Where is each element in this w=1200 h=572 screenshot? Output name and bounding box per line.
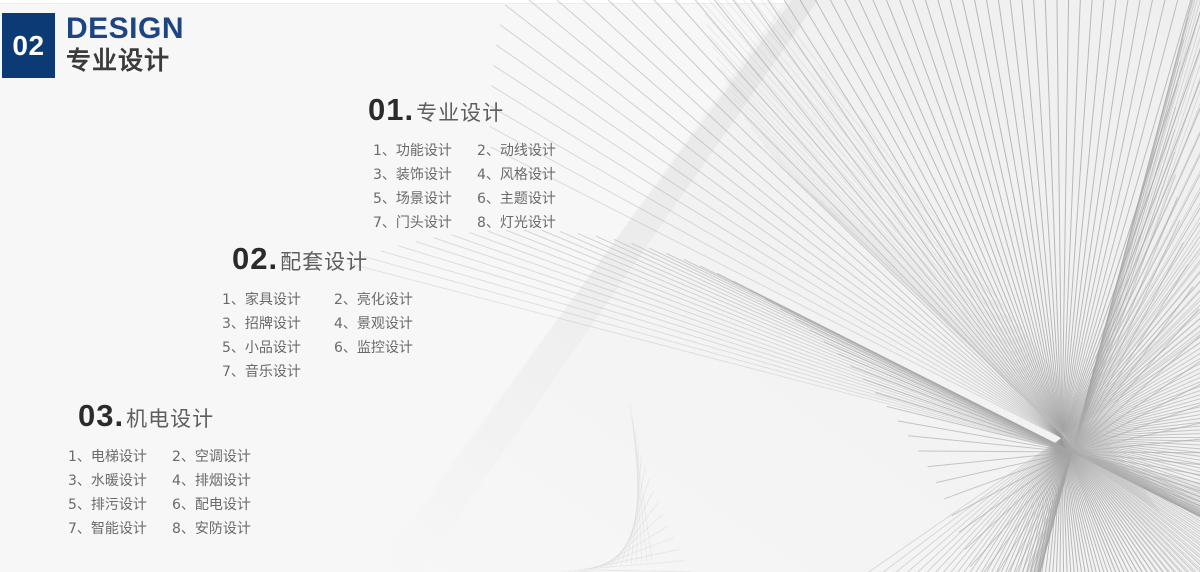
content-block-03: 03. 机电设计 1、电梯设计 2、空调设计 3、水暖设计 4、排烟设计 5、排… — [78, 400, 276, 541]
block-index-01: 01. — [368, 94, 414, 125]
list-item: 5、小品设计 — [222, 336, 334, 360]
list-item: 6、监控设计 — [334, 336, 446, 360]
block-index-02: 02. — [232, 243, 278, 274]
list-item — [334, 360, 446, 384]
content-block-02: 02. 配套设计 1、家具设计 2、亮化设计 3、招牌设计 4、景观设计 5、小… — [232, 243, 446, 384]
list-item: 3、装饰设计 — [373, 163, 477, 187]
block-index-03: 03. — [78, 400, 124, 431]
list-item: 2、动线设计 — [477, 139, 581, 163]
list-item: 6、配电设计 — [172, 493, 276, 517]
section-number-badge: 02 — [2, 13, 55, 78]
list-item: 1、功能设计 — [373, 139, 477, 163]
list-item: 8、灯光设计 — [477, 211, 581, 235]
list-row: 3、装饰设计 4、风格设计 — [373, 163, 581, 187]
list-row: 1、功能设计 2、动线设计 — [373, 139, 581, 163]
top-divider — [0, 0, 1200, 4]
list-item: 4、景观设计 — [334, 312, 446, 336]
list-row: 5、小品设计 6、监控设计 — [222, 336, 446, 360]
list-item: 3、水暖设计 — [68, 469, 172, 493]
block-label-01: 专业设计 — [416, 103, 504, 124]
list-item: 4、排烟设计 — [172, 469, 276, 493]
list-item: 5、场景设计 — [373, 187, 477, 211]
list-item: 7、智能设计 — [68, 517, 172, 541]
list-row: 3、水暖设计 4、排烟设计 — [68, 469, 276, 493]
list-item: 1、电梯设计 — [68, 445, 172, 469]
list-item: 8、安防设计 — [172, 517, 276, 541]
list-row: 3、招牌设计 4、景观设计 — [222, 312, 446, 336]
block-label-02: 配套设计 — [280, 252, 368, 273]
block-title-03: 03. 机电设计 — [78, 400, 276, 431]
page-title-cn: 专业设计 — [66, 48, 184, 73]
list-row: 7、音乐设计 — [222, 360, 446, 384]
content-block-01: 01. 专业设计 1、功能设计 2、动线设计 3、装饰设计 4、风格设计 5、场… — [368, 94, 581, 235]
block-label-03: 机电设计 — [126, 409, 214, 430]
list-row: 7、门头设计 8、灯光设计 — [373, 211, 581, 235]
block-title-02: 02. 配套设计 — [232, 243, 446, 274]
list-item: 3、招牌设计 — [222, 312, 334, 336]
list-row: 1、家具设计 2、亮化设计 — [222, 288, 446, 312]
block-list-03: 1、电梯设计 2、空调设计 3、水暖设计 4、排烟设计 5、排污设计 6、配电设… — [68, 445, 276, 541]
slide-canvas: 02 DESIGN 专业设计 01. 专业设计 1、功能设计 2、动线设计 3、… — [0, 0, 1200, 572]
list-item: 7、门头设计 — [373, 211, 477, 235]
block-title-01: 01. 专业设计 — [368, 94, 581, 125]
list-item: 7、音乐设计 — [222, 360, 334, 384]
list-row: 5、排污设计 6、配电设计 — [68, 493, 276, 517]
list-row: 5、场景设计 6、主题设计 — [373, 187, 581, 211]
list-row: 1、电梯设计 2、空调设计 — [68, 445, 276, 469]
list-item: 2、亮化设计 — [334, 288, 446, 312]
list-item: 2、空调设计 — [172, 445, 276, 469]
block-list-01: 1、功能设计 2、动线设计 3、装饰设计 4、风格设计 5、场景设计 6、主题设… — [373, 139, 581, 235]
list-item: 6、主题设计 — [477, 187, 581, 211]
header-text-group: DESIGN 专业设计 — [66, 14, 184, 73]
list-item: 4、风格设计 — [477, 163, 581, 187]
block-list-02: 1、家具设计 2、亮化设计 3、招牌设计 4、景观设计 5、小品设计 6、监控设… — [222, 288, 446, 384]
list-item: 5、排污设计 — [68, 493, 172, 517]
list-row: 7、智能设计 8、安防设计 — [68, 517, 276, 541]
list-item: 1、家具设计 — [222, 288, 334, 312]
page-title-en: DESIGN — [66, 14, 184, 44]
